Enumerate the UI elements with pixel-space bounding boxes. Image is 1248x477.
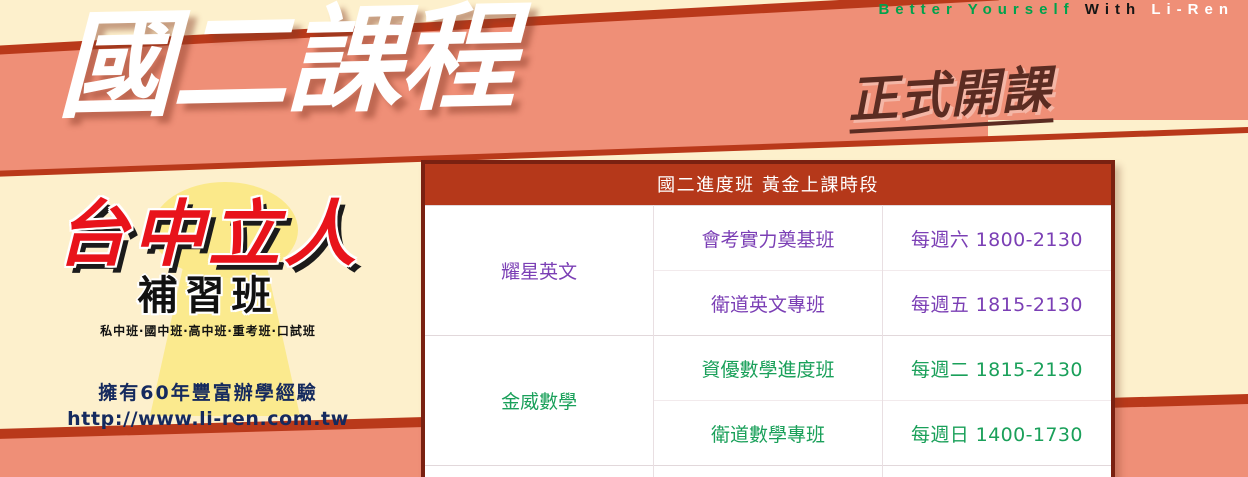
logo-class-tags: 私中班‧國中班‧高中班‧重考班‧口試班 [28,322,388,339]
tagline-part-black: With [1085,1,1141,18]
experience-text: 擁有60年豐富辦學經驗 [28,378,388,405]
course-name-cell: 衛道英文專班 [654,271,883,336]
page-subtitle: 正式開課 [847,64,1054,133]
school-logo: 台中立人 補習班 私中班‧國中班‧高中班‧重考班‧口試班 [28,196,388,339]
schedule-table-body: 耀星英文會考實力奠基班每週六 1800-2130衛道英文專班每週五 1815-2… [425,206,1111,477]
table-row: 耀星英文會考實力奠基班每週六 1800-2130 [425,206,1111,271]
table-row: 金威數學資優數學進度班每週二 1815-2130 [425,336,1111,401]
course-name-cell: 資優理化進度班 [654,466,883,477]
table-row: 楊過自然資優理化進度班每週四 1815-2130 [425,466,1111,477]
course-time-cell: 每週二 1815-2130 [882,336,1111,401]
course-time-cell: 每週五 1815-2130 [882,271,1111,336]
website-link[interactable]: http://www.li-ren.com.tw [28,408,388,430]
schedule-table-container: 國二進度班 黃金上課時段 耀星英文會考實力奠基班每週六 1800-2130衛道英… [421,160,1115,477]
course-name-cell: 會考實力奠基班 [654,206,883,271]
tagline-part-white: Li-Ren [1151,1,1234,18]
course-time-cell: 每週四 1815-2130 [882,466,1111,477]
course-time-cell: 每週六 1800-2130 [882,206,1111,271]
course-name-cell: 衛道數學專班 [654,401,883,466]
brand-tagline: Better Yourself With Li-Ren [878,1,1234,18]
schedule-table-header: 國二進度班 黃金上課時段 [425,164,1111,206]
subject-cell: 楊過自然 [425,466,654,477]
logo-school-type: 補習班 [28,274,388,318]
tagline-part-green: Better Yourself [878,1,1074,18]
subject-cell: 耀星英文 [425,206,654,336]
logo-school-name: 台中立人 [28,196,388,272]
schedule-table: 國二進度班 黃金上課時段 耀星英文會考實力奠基班每週六 1800-2130衛道英… [425,164,1111,477]
page-title: 國二課程 [57,0,515,125]
course-time-cell: 每週日 1400-1730 [882,401,1111,466]
promotional-banner: Better Yourself With Li-Ren 國二課程 正式開課 台中… [0,0,1248,477]
course-name-cell: 資優數學進度班 [654,336,883,401]
subject-cell: 金威數學 [425,336,654,466]
contact-block: 擁有60年豐富辦學經驗 http://www.li-ren.com.tw [28,378,388,430]
